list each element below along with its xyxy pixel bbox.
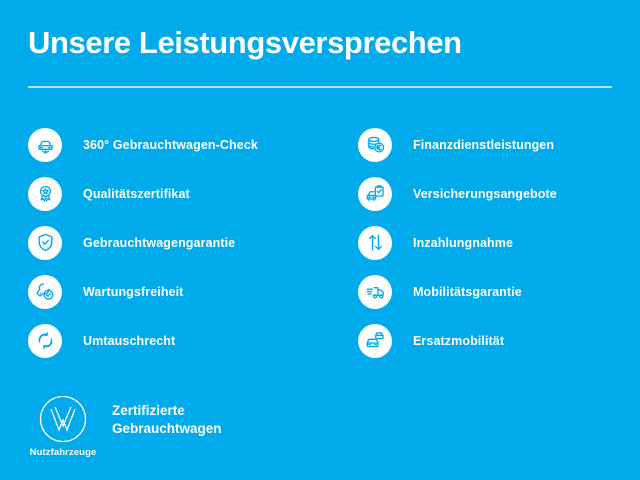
benefit-label: Ersatzmobilität — [413, 334, 504, 348]
benefit-label: Finanzdienstleistungen — [413, 138, 554, 152]
benefit-item-versicherungsangebote[interactable]: Versicherungsangebote — [358, 169, 628, 218]
benefit-item-qualitaetszertifikat[interactable]: Qualitätszertifikat — [28, 169, 348, 218]
brand-logo-block: Nutzfahrzeuge — [28, 394, 98, 458]
benefit-item-mobilitaetsgarantie[interactable]: Mobilitätsgarantie — [358, 267, 628, 316]
two-cars-icon — [358, 324, 392, 358]
benefit-label: Inzahlungnahme — [413, 236, 513, 250]
benefit-label: Gebrauchtwagengarantie — [83, 236, 235, 250]
benefit-label: Versicherungsangebote — [413, 187, 557, 201]
benefit-label: 360° Gebrauchtwagen-Check — [83, 138, 258, 152]
benefit-label: Umtauschrecht — [83, 334, 175, 348]
benefit-label: Wartungsfreiheit — [83, 285, 183, 299]
shield-check-icon — [28, 226, 62, 260]
car-check-icon — [28, 128, 62, 162]
title-divider — [28, 86, 612, 88]
slide-canvas: Unsere Leistungsversprechen 360° Gebrauc… — [0, 0, 640, 480]
benefit-item-inzahlungnahme[interactable]: Inzahlungnahme — [358, 218, 628, 267]
benefits-right-column: Finanzdienstleistungen Versicherungsange… — [358, 120, 628, 365]
up-down-arrows-icon — [358, 226, 392, 260]
exchange-arrows-icon — [28, 324, 62, 358]
footer-lockup: Nutzfahrzeuge Zertifizierte Gebrauchtwag… — [28, 394, 222, 458]
volkswagen-logo-icon — [38, 394, 88, 444]
benefits-left-column: 360° Gebrauchtwagen-Check Qualitätszerti… — [28, 120, 348, 365]
footer-text: Zertifizierte Gebrauchtwagen — [112, 402, 222, 438]
footer-text-line2: Gebrauchtwagen — [112, 420, 222, 438]
car-clipboard-icon — [358, 177, 392, 211]
benefit-item-wartungsfreiheit[interactable]: Wartungsfreiheit — [28, 267, 348, 316]
page-title: Unsere Leistungsversprechen — [28, 26, 462, 60]
benefit-item-finanzdienstleistungen[interactable]: Finanzdienstleistungen — [358, 120, 628, 169]
logo-subline: Nutzfahrzeuge — [30, 447, 97, 458]
benefit-item-gebrauchtwagen-check[interactable]: 360° Gebrauchtwagen-Check — [28, 120, 348, 169]
benefit-label: Mobilitätsgarantie — [413, 285, 522, 299]
footer-text-line1: Zertifizierte — [112, 402, 222, 420]
tow-truck-icon — [358, 275, 392, 309]
benefit-item-umtauschrecht[interactable]: Umtauschrecht — [28, 316, 348, 365]
wrench-check-icon — [28, 275, 62, 309]
benefit-item-gebrauchtwagengarantie[interactable]: Gebrauchtwagengarantie — [28, 218, 348, 267]
benefit-item-ersatzmobilitaet[interactable]: Ersatzmobilität — [358, 316, 628, 365]
benefit-label: Qualitätszertifikat — [83, 187, 190, 201]
award-rosette-icon — [28, 177, 62, 211]
coins-euro-icon — [358, 128, 392, 162]
